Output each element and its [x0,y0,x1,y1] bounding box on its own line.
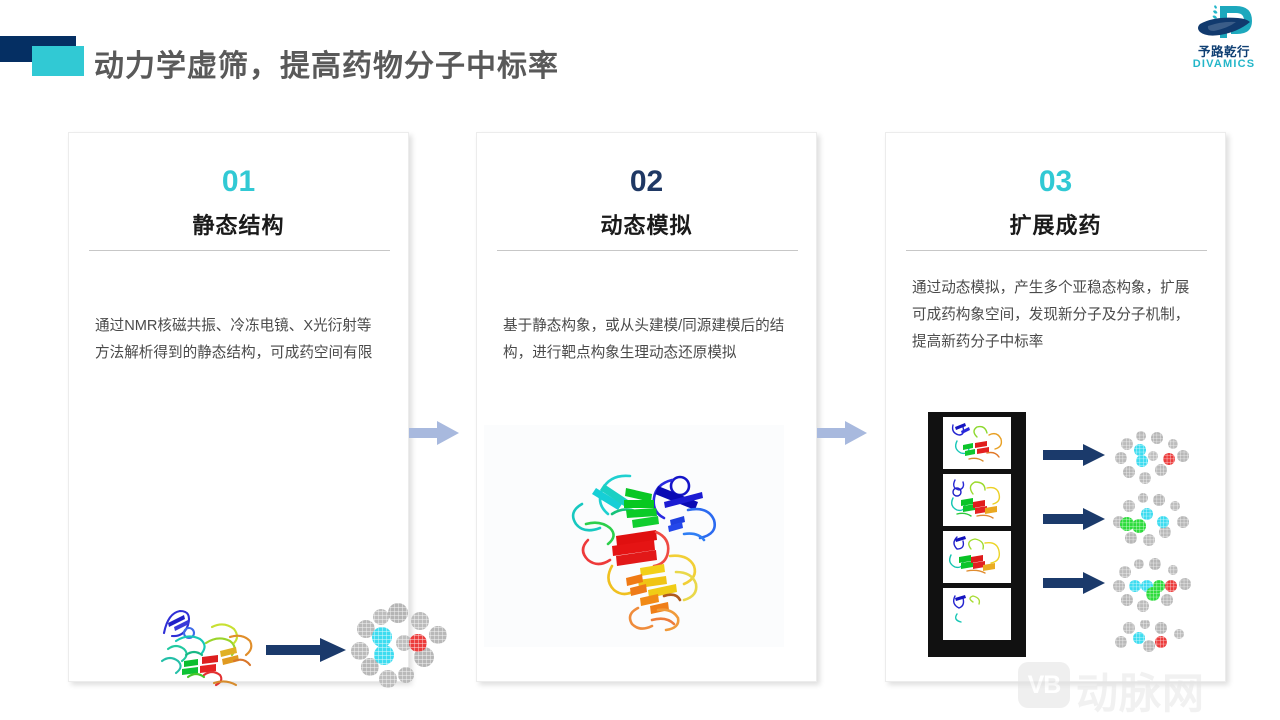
step-number-2: 02 [477,165,816,199]
watermark-text: 动脉网 [1076,660,1205,720]
divamics-d-mark-icon [1194,4,1256,42]
step-body-1: 通过NMR核磁共振、冷冻电镜、X光衍射等方法解析得到的静态结构，可成药空间有限 [95,313,385,367]
step-body-2: 基于静态构象，或从头建模/同源建模后的结构，进行靶点构象生理动态还原模拟 [503,313,793,367]
film-frame-1 [943,417,1011,469]
conformer-arrow-1-icon [1043,444,1105,466]
transform-arrow-icon [266,637,346,663]
film-frame-2 [943,474,1011,526]
step-number-1: 01 [69,165,408,199]
step-number-3: 03 [886,165,1225,199]
conformer-arrow-3-icon [1043,572,1105,594]
logo-name-en: DIVAMICS [1178,58,1270,70]
arrow-card1-to-card2 [409,420,459,446]
arrow-card2-to-card3 [817,420,867,446]
step-body-3: 通过动态模拟，产生多个亚稳态构象，扩展可成药构象空间，发现新分子及分子机制，提高… [912,275,1202,356]
title-accent-cyan [32,46,84,76]
film-frame-4 [943,588,1011,640]
step-card-1: 01 静态结构 通过NMR核磁共振、冷冻电镜、X光衍射等方法解析得到的静态结构，… [68,132,409,682]
divider-1 [89,250,390,251]
molecule-cluster-icon [346,599,456,699]
divider-2 [497,250,798,251]
film-frame-3 [943,531,1011,583]
conformer-cluster-1-icon [1109,428,1199,488]
conformer-cluster-3-icon [1109,556,1199,616]
divider-3 [906,250,1207,251]
illustration-static-structure [154,599,464,699]
filmstrip-sprockets-right [1011,412,1026,657]
step-heading-2: 动态模拟 [477,208,816,240]
filmstrip-sprockets-left [928,412,943,657]
conformer-arrow-2-icon [1043,508,1105,530]
conformer-row-3 [1043,556,1218,616]
slide-header: 动力学虚筛，提高药物分子中标率 [0,0,1280,110]
rainbow-protein-ribbon-icon [552,440,752,640]
brand-logo: 予路乾行 DIVAMICS [1178,4,1270,74]
conformer-row-1 [1043,428,1218,488]
watermark: VB 动脉网 [1018,660,1276,712]
filmstrip-icon [928,412,1026,657]
protein-ribbon-icon [154,603,259,695]
conformer-row-2 [1043,492,1218,552]
step-heading-1: 静态结构 [69,208,408,240]
watermark-badge: VB [1018,662,1070,708]
page-title: 动力学虚筛，提高药物分子中标率 [94,41,559,85]
step-heading-3: 扩展成药 [886,208,1225,240]
conformer-cluster-2-icon [1109,492,1199,552]
